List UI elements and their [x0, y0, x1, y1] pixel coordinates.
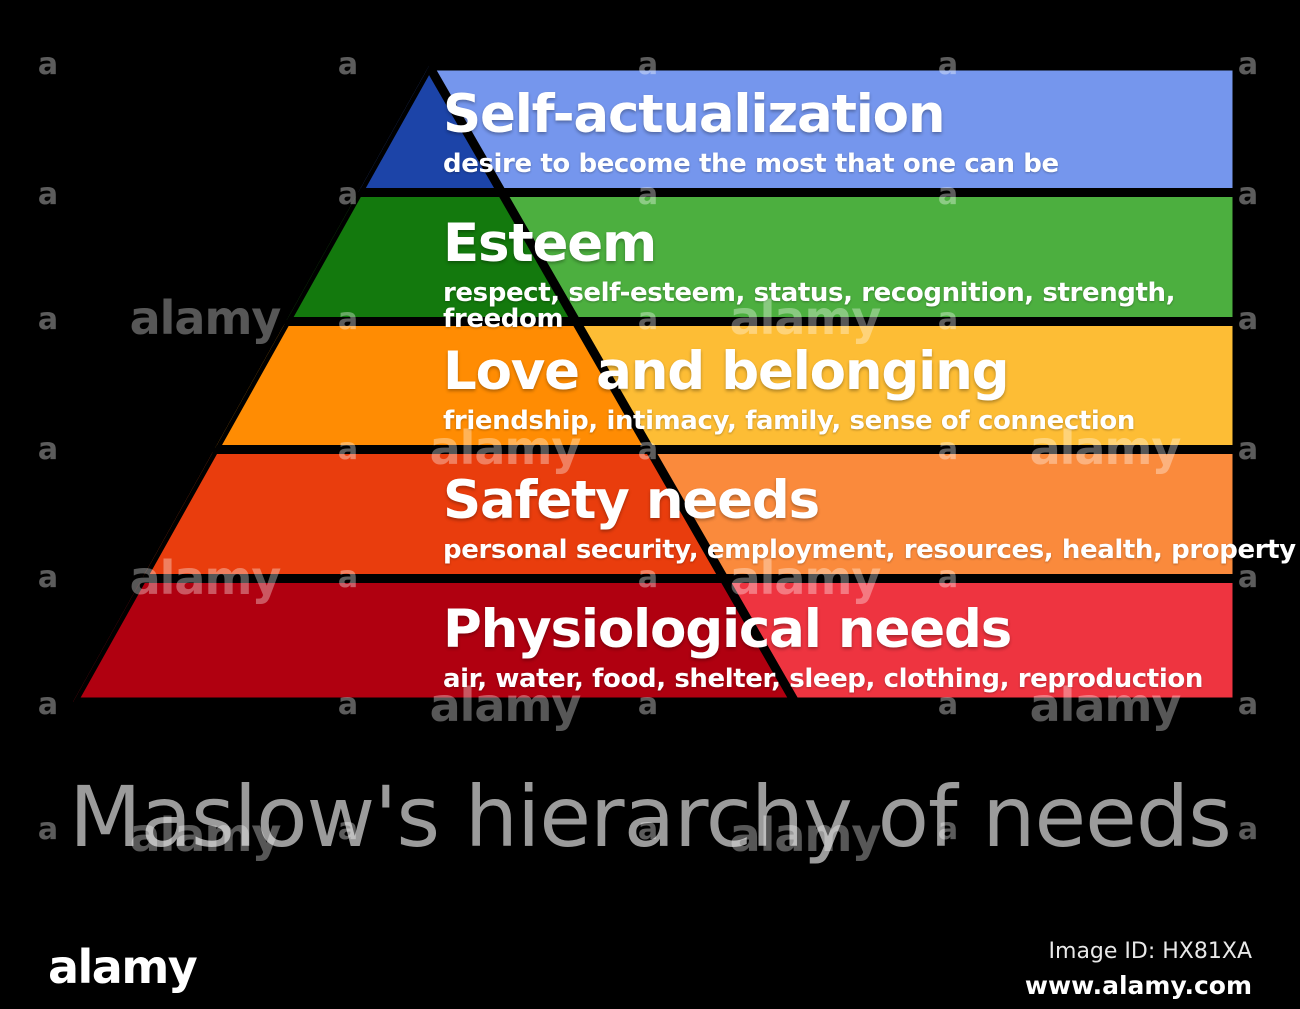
chart-title-text: Maslow's hierarchy of needs [69, 775, 1231, 859]
tier-band-love-and-belonging [0, 324, 1300, 448]
alamy-logo: alamy [48, 944, 196, 990]
image-canvas: Self-actualization desire to become the … [0, 0, 1300, 1009]
footer-meta: Image ID: HX81XA www.alamy.com [1025, 938, 1252, 1002]
chart-title: Maslow's hierarchy of needs [0, 762, 1300, 872]
image-id-label: Image ID: HX81XA [1025, 938, 1252, 966]
tier-band-esteem [0, 196, 1300, 320]
tier-band-self-actualization [0, 66, 1300, 192]
maslow-pyramid [0, 0, 1300, 760]
site-url-label: www.alamy.com [1025, 970, 1252, 1003]
stock-footer-bar: alamy Image ID: HX81XA www.alamy.com [0, 930, 1300, 1009]
